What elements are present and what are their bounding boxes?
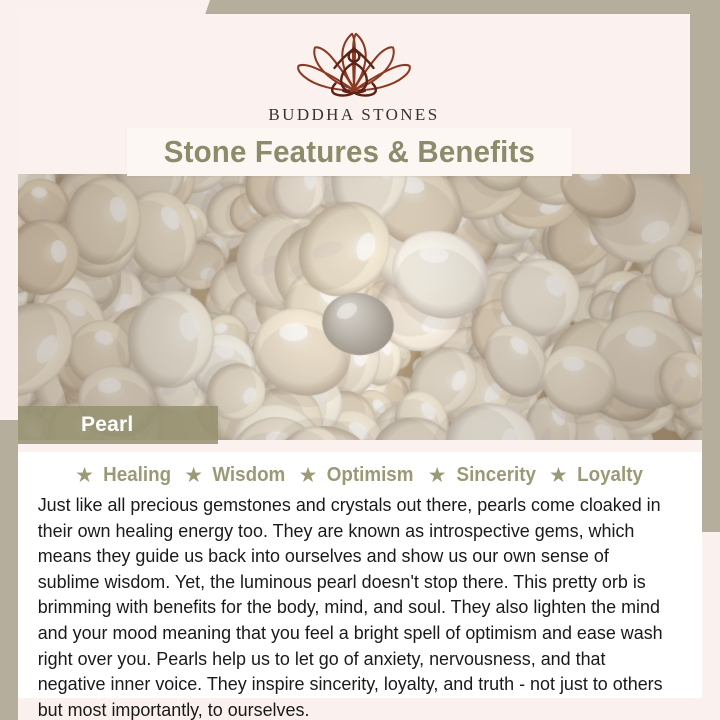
benefit-label: Healing	[103, 464, 171, 487]
star-icon: ★	[428, 465, 447, 486]
benefit-item-wisdom: ★Wisdom	[184, 464, 287, 487]
pearl-photo-canvas	[18, 174, 702, 440]
benefit-item-sincerity: ★Sincerity	[428, 464, 538, 487]
title-banner: Stone Features & Benefits	[127, 128, 572, 176]
brand-header: BUDDHA STONES	[18, 14, 690, 132]
stone-name: Pearl	[18, 413, 133, 437]
brand-name: BUDDHA STONES	[268, 105, 439, 125]
frame-band-left	[0, 420, 18, 720]
poster-root: BUDDHA STONES Stone Features & Benefits …	[0, 0, 720, 720]
benefit-label: Sincerity	[456, 464, 535, 487]
benefit-label: Optimism	[327, 464, 414, 487]
benefit-label: Wisdom	[212, 464, 285, 487]
star-icon: ★	[184, 465, 203, 486]
stone-name-bar: Pearl	[18, 406, 218, 444]
description-text: Just like all precious gemstones and cry…	[26, 490, 677, 720]
lotus-meditation-icon	[279, 26, 429, 104]
star-icon: ★	[299, 465, 318, 486]
star-icon: ★	[549, 465, 568, 486]
benefit-label: Loyalty	[577, 464, 643, 487]
star-icon: ★	[75, 465, 94, 486]
benefit-item-optimism: ★Optimism	[299, 464, 417, 487]
benefits-list: ★Healing★Wisdom★Optimism★Sincerity★Loyal…	[26, 460, 694, 490]
pearl-photo	[18, 174, 702, 440]
description-panel: ★Healing★Wisdom★Optimism★Sincerity★Loyal…	[18, 440, 702, 698]
benefit-item-healing: ★Healing	[75, 464, 173, 487]
benefit-item-loyalty: ★Loyalty	[549, 464, 645, 487]
page-title: Stone Features & Benefits	[164, 134, 535, 170]
